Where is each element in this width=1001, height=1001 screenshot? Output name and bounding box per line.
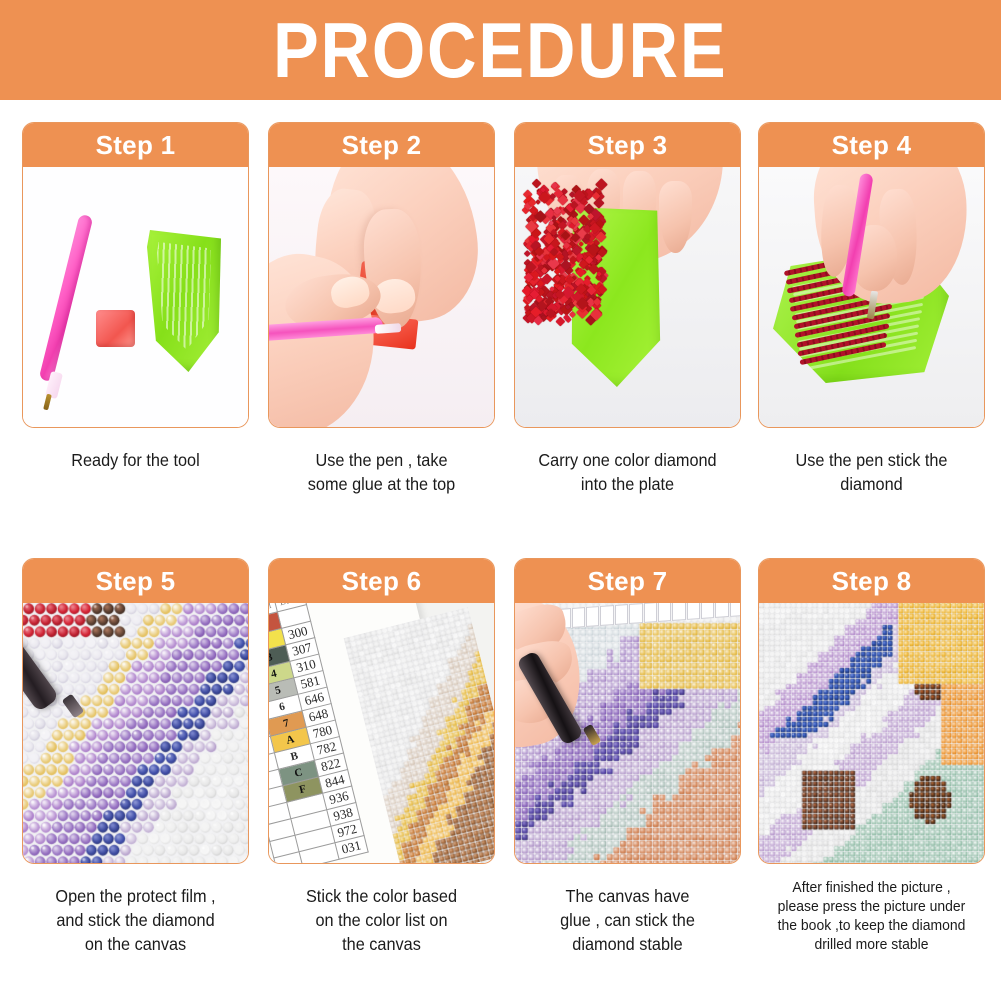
step-header-8: Step 8	[759, 559, 984, 603]
step-image-5	[23, 603, 248, 864]
step-caption-5: Open the protect film , and stick the di…	[30, 884, 241, 956]
step-caption-7: The canvas have glue , can stick the dia…	[522, 884, 733, 956]
step-header-2: Step 2	[269, 123, 494, 167]
step-image-1	[23, 167, 248, 428]
page-header-banner: PROCEDURE	[0, 0, 1001, 100]
step-card-4: Step 4	[758, 122, 985, 428]
step-image-4	[759, 167, 984, 428]
steps-grid: Step 1	[0, 100, 1001, 1001]
step-header-5: Step 5	[23, 559, 248, 603]
step-caption-3: Carry one color diamond into the plate	[522, 448, 733, 496]
step-card-3: Step 3	[514, 122, 741, 428]
step-cell-4: Step 4	[758, 122, 985, 496]
tools-illustration	[23, 167, 248, 428]
step-caption-4: Use the pen stick the diamond	[766, 448, 977, 496]
step-image-6: SymbolDMC1122300333074431055581666467764…	[269, 603, 494, 864]
wax-glue-icon	[96, 310, 135, 347]
step-label-2: Step 2	[342, 132, 422, 158]
pickup-drill-illustration	[759, 167, 984, 428]
step-cell-8: Step 8 After finished the picture , plea…	[758, 558, 985, 954]
step-header-7: Step 7	[515, 559, 740, 603]
pen-tip-icon	[43, 394, 52, 411]
step-header-4: Step 4	[759, 123, 984, 167]
diamond-canvas-closeup	[23, 603, 248, 864]
pen-tip-icon	[375, 323, 402, 334]
step-card-5: Step 5	[22, 558, 249, 864]
step-card-2: Step 2	[268, 122, 495, 428]
finger-icon	[659, 181, 692, 253]
step-header-3: Step 3	[515, 123, 740, 167]
step-image-2	[269, 167, 494, 428]
color-chart-illustration: SymbolDMC1122300333074431055581666467764…	[269, 603, 494, 864]
step-card-8: Step 8	[758, 558, 985, 864]
step-caption-2: Use the pen , take some glue at the top	[276, 448, 487, 496]
step-card-1: Step 1	[22, 122, 249, 428]
step-cell-1: Step 1	[22, 122, 249, 472]
step-label-5: Step 5	[96, 568, 176, 594]
finished-picture	[759, 603, 984, 864]
step-cell-7: Step 7	[514, 558, 741, 956]
step-image-3	[515, 167, 740, 428]
step-image-8	[759, 603, 984, 864]
step-label-8: Step 8	[832, 568, 912, 594]
step-card-7: Step 7	[514, 558, 741, 864]
step-label-4: Step 4	[832, 132, 912, 158]
step-label-6: Step 6	[342, 568, 422, 594]
step-cell-6: Step 6 SymbolDMC112230033307443105558166…	[268, 558, 495, 956]
placing-drill-illustration	[515, 603, 740, 864]
step-card-6: Step 6 SymbolDMC112230033307443105558166…	[268, 558, 495, 864]
step-header-1: Step 1	[23, 123, 248, 167]
step-caption-6: Stick the color based on the color list …	[276, 884, 487, 956]
step-caption-1: Ready for the tool	[30, 448, 241, 472]
procedure-infographic: PROCEDURE Step 1	[0, 0, 1001, 1001]
step-cell-3: Step 3	[514, 122, 741, 496]
glue-pickup-illustration	[269, 167, 494, 428]
step-header-6: Step 6	[269, 559, 494, 603]
step-caption-8: After finished the picture , please pres…	[766, 878, 977, 954]
step-image-7	[515, 603, 740, 864]
page-title: PROCEDURE	[273, 11, 727, 89]
step-cell-5: Step 5 Open the protect film , and stick…	[22, 558, 249, 956]
step-label-3: Step 3	[588, 132, 668, 158]
red-drills-icon	[523, 179, 603, 329]
step-label-1: Step 1	[96, 132, 176, 158]
pink-pen-icon	[39, 214, 94, 382]
green-tray-icon	[147, 230, 221, 372]
step-cell-2: Step 2	[268, 122, 495, 496]
tray-with-drills-illustration	[515, 167, 740, 428]
step-label-7: Step 7	[588, 568, 668, 594]
